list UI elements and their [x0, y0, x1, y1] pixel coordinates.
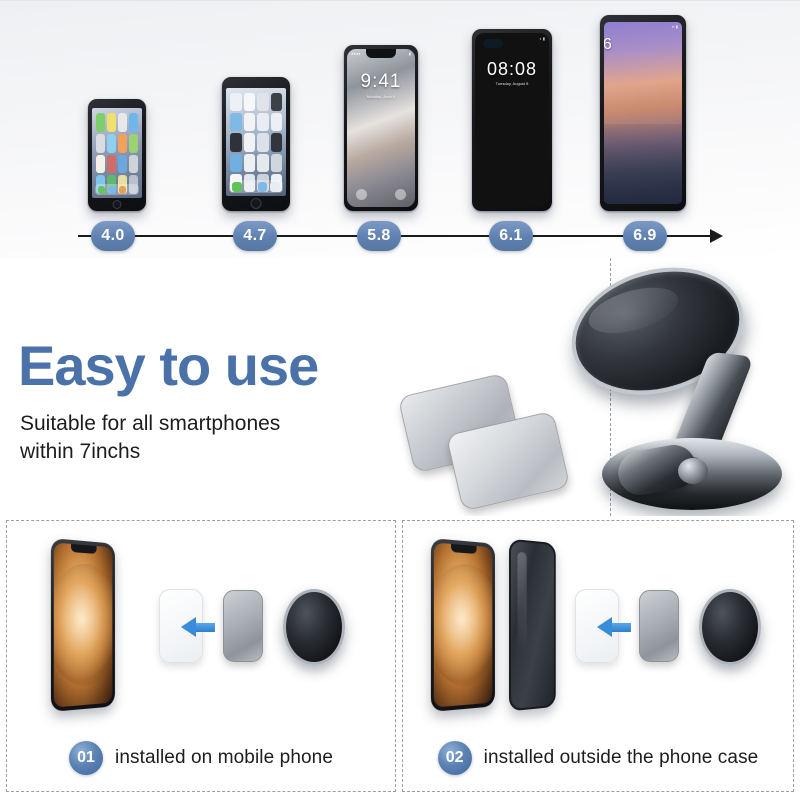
caption-text: installed outside the phone case	[484, 747, 759, 769]
mount-knob	[678, 458, 708, 484]
exploded-view-02	[403, 527, 793, 727]
step-badge-02: 02	[438, 741, 472, 775]
phone-6-9: ▪▪ ▮ 8:16 Friday, May 20	[600, 15, 686, 211]
phone-5-8: ●●●●▮ 9:41 Monday, June 4	[344, 45, 418, 211]
lockscreen-clock: 9:41 Monday, June 4	[347, 71, 415, 99]
subtitle-line-2: within 7inchs	[20, 440, 140, 463]
install-panel-02: 02 installed outside the phone case	[402, 520, 794, 792]
phone-4-0	[88, 99, 146, 211]
size-badge-5-8: 5.8	[357, 221, 401, 251]
magnetic-mount-head	[699, 589, 761, 665]
phone-lineup: ●●●●▮ 9:41 Monday, June 4 ◗ ▮	[0, 1, 800, 211]
size-badge-6-9: 6.9	[623, 221, 667, 251]
phone	[431, 538, 495, 712]
install-panel-01: 01 installed on mobile phone	[6, 520, 396, 792]
arrow-icon	[181, 617, 215, 637]
product-infographic: ●●●●▮ 9:41 Monday, June 4 ◗ ▮	[0, 0, 800, 800]
caption-text: installed on mobile phone	[115, 747, 333, 769]
caption-01: 01 installed on mobile phone	[7, 741, 395, 775]
exploded-view-01	[7, 527, 395, 727]
size-badge-4-7: 4.7	[233, 221, 277, 251]
magnetic-car-mount	[560, 262, 790, 512]
metal-plates	[405, 378, 580, 508]
size-timeline: 4.0 4.7 5.8 6.1 6.9	[0, 213, 800, 258]
metal-plate	[639, 590, 679, 662]
size-badge-6-1: 6.1	[489, 221, 533, 251]
home-button-icon	[251, 198, 262, 209]
arrow-icon	[597, 617, 631, 637]
magnetic-mount-head	[283, 589, 345, 665]
subtitle: Suitable for all smartphones within 7inc…	[20, 410, 380, 465]
timeline-arrow-icon	[710, 229, 723, 243]
installation-section: 01 installed on mobile phone	[0, 516, 800, 800]
caption-02: 02 installed outside the phone case	[403, 741, 793, 775]
phone-case	[509, 539, 556, 712]
subtitle-line-1: Suitable for all smartphones	[20, 412, 280, 435]
home-button-icon	[113, 200, 122, 209]
phone-4-7	[222, 77, 290, 211]
metal-plate	[223, 590, 263, 662]
size-comparison-section: ●●●●▮ 9:41 Monday, June 4 ◗ ▮	[0, 0, 800, 258]
size-badge-4-0: 4.0	[91, 221, 135, 251]
page-title: Easy to use	[18, 338, 318, 394]
phone	[51, 538, 115, 712]
lockscreen-clock: 8:16 Friday, May 20	[604, 36, 616, 60]
phone-6-1: ◗ ▮ 08:08 Tuesday, August 8	[472, 29, 552, 211]
lockscreen-clock: 08:08 Tuesday, August 8	[475, 59, 549, 86]
step-badge-01: 01	[69, 741, 103, 775]
